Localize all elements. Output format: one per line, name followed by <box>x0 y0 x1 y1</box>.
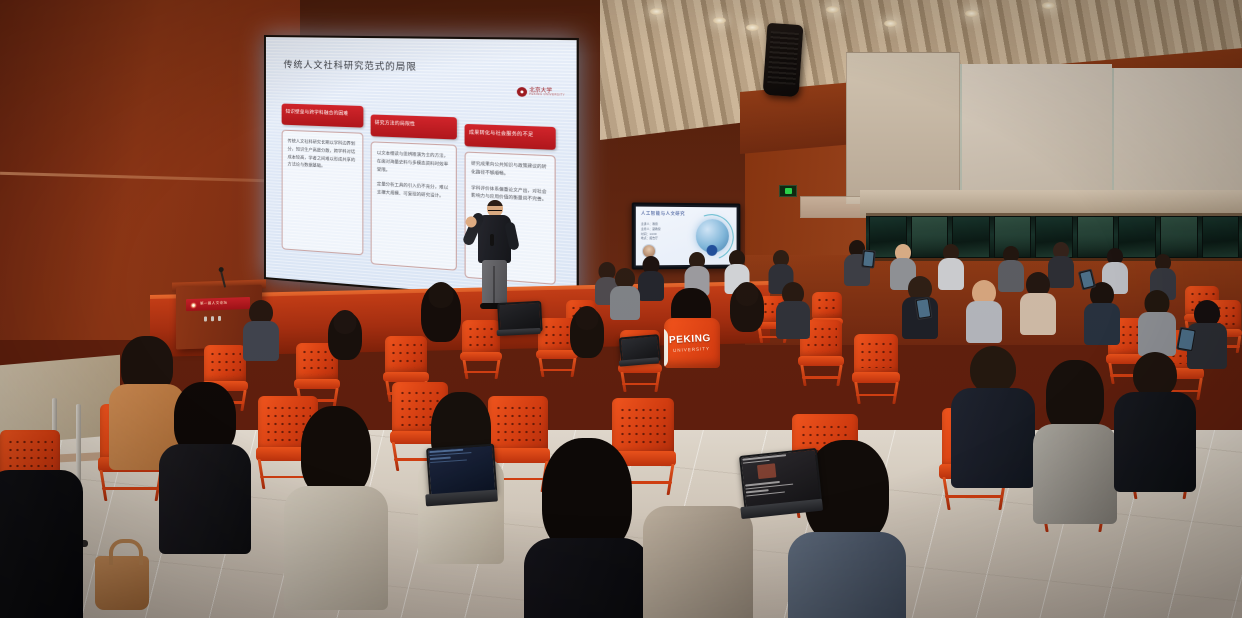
secondary-slide-title: 人工智能与人文研究 <box>641 211 685 217</box>
torso <box>966 301 1002 343</box>
torso <box>1020 293 1056 335</box>
audience-member <box>1000 246 1022 286</box>
university-seal-icon <box>517 87 527 97</box>
audience-member-foreground <box>118 336 176 456</box>
torso <box>0 470 83 618</box>
torso <box>159 444 251 554</box>
laptop-stage-edge[interactable] <box>497 301 539 337</box>
audience-member <box>778 282 808 336</box>
slide-title: 传统人文社科研究范式的局限 <box>284 57 417 73</box>
lectern-banner-text: 第一届人文论坛 <box>200 302 227 307</box>
torso <box>776 301 810 339</box>
audience-member-foreground <box>544 438 630 618</box>
decorative-dot-icon <box>707 245 718 256</box>
slide-card-paragraph: 传统人文社科研究长期以学科边界划分，知识生产高度分散，跨学科对话成本较高，学者之… <box>288 137 358 172</box>
audience-member <box>246 300 276 356</box>
audience-member <box>640 256 662 296</box>
audience-member <box>940 244 962 284</box>
torso <box>638 271 664 301</box>
chair <box>854 334 898 400</box>
torso <box>643 506 753 618</box>
slide-card: 研究方法的局限性 以文本细读与思辨推演为主的方法，在面对海量史料与多模态资料时效… <box>371 114 457 277</box>
slide-card-paragraph: 研究成果向公共知识与政策建议的转化路径不够顺畅。 <box>471 159 549 179</box>
audience-member <box>686 252 708 292</box>
audience-member <box>968 280 1000 338</box>
phone-icon <box>914 297 932 320</box>
torso <box>524 538 650 618</box>
downlight-icon <box>826 6 839 13</box>
audience-member <box>612 268 638 314</box>
audience-member-foreground <box>300 406 372 576</box>
hair <box>301 406 371 498</box>
torso <box>951 388 1035 488</box>
slide-card-paragraph: 定量分析工具的引入仍不充分，难以支撑大规模、可复现的研究设计。 <box>377 180 450 200</box>
downlight-icon <box>884 20 897 27</box>
audience-member <box>1140 290 1174 350</box>
varsity-jacket: PEKING UNIVERSITY <box>664 318 720 368</box>
presenter-legs <box>482 260 507 305</box>
torso <box>1114 392 1196 492</box>
torso <box>788 532 906 618</box>
glass-partition <box>1112 68 1242 208</box>
glass-partition <box>960 64 1112 206</box>
slide-card: 知识壁垒与跨学科融合的困难 传统人文社科研究长期以学科边界划分，知识生产高度分散… <box>282 104 364 270</box>
downlight-icon <box>713 17 726 24</box>
window-pane <box>1160 216 1198 258</box>
peking-university-logo: 北京大学 PEKING UNIVERSITY <box>517 87 565 98</box>
hair <box>1046 360 1104 434</box>
torso <box>243 321 279 361</box>
glasses-icon <box>488 207 502 211</box>
audience-member-foreground <box>172 382 238 532</box>
window-pane <box>1202 216 1240 258</box>
audience-member-foreground <box>962 346 1024 486</box>
lectern-controls <box>204 316 221 322</box>
audience-member-foreground <box>1126 352 1184 492</box>
head <box>736 282 759 306</box>
head <box>334 310 357 334</box>
head <box>576 306 599 330</box>
laptop-mid-row[interactable] <box>619 334 657 367</box>
logo-subtext: PEKING UNIVERSITY <box>529 93 565 97</box>
slide-card-header: 成果转化与社会服务的不足 <box>465 124 556 150</box>
slide-card-paragraph: 以文本细读与思辨推演为主的方法，在面对海量史料与多模态资料时效率受限。 <box>377 149 450 177</box>
speaker-line: 地点：报告厅 <box>641 236 689 241</box>
main-projection-screen: 传统人文社科研究范式的局限 北京大学 PEKING UNIVERSITY 知识壁… <box>264 35 579 305</box>
audience-member-foreground <box>660 506 736 618</box>
audience-member <box>424 282 458 344</box>
torso <box>284 486 388 610</box>
downlight-icon <box>650 8 663 15</box>
laptop-foreground-left[interactable] <box>426 444 494 506</box>
audience-member-foreground <box>0 470 70 618</box>
head <box>970 346 1016 394</box>
audience-member <box>1086 282 1118 340</box>
lectern-banner: 第一届人文论坛 <box>186 297 250 311</box>
head <box>429 282 454 308</box>
audience-member <box>1022 272 1054 330</box>
jacket-sleeve <box>664 328 668 368</box>
torso <box>998 260 1024 292</box>
downlight-icon <box>746 24 759 31</box>
downlight-icon <box>965 10 978 17</box>
slide-card-body: 以文本细读与思辨推演为主的方法，在面对海量史料与多模态资料时效率受限。 定量分析… <box>371 141 457 270</box>
slide-card-header: 知识壁垒与跨学科融合的困难 <box>282 104 364 128</box>
loudspeaker-cabinet <box>763 23 804 97</box>
audience-member <box>572 306 602 362</box>
varsity-jacket-subtext: UNIVERSITY <box>673 346 710 353</box>
torso <box>938 258 964 290</box>
audience-member <box>330 310 360 366</box>
slide-card-body: 传统人文社科研究长期以学科边界划分，知识生产高度分散，跨学科对话成本较高，学者之… <box>282 130 364 256</box>
secondary-slide-lines: 主讲人：教授 主持人：副教授 时间：14:00 地点：报告厅 <box>641 222 689 241</box>
downlight-icon <box>1042 2 1055 9</box>
audience-member-foreground <box>1046 360 1104 500</box>
audience-member <box>732 282 762 336</box>
university-seal-icon <box>190 301 197 308</box>
handheld-microphone-icon <box>490 234 494 246</box>
phone-icon <box>861 249 876 268</box>
handbag <box>95 556 149 610</box>
acoustic-panel <box>846 52 960 204</box>
lecture-hall-photo: 传统人文社科研究范式的局限 北京大学 PEKING UNIVERSITY 知识壁… <box>0 0 1242 618</box>
chair <box>462 320 500 376</box>
exit-sign-icon <box>779 185 797 197</box>
hair <box>542 438 632 554</box>
slide-card-header: 研究方法的局限性 <box>371 114 457 139</box>
torso <box>1138 312 1176 356</box>
varsity-jacket-text: PEKING <box>669 333 711 346</box>
torso <box>1033 424 1117 524</box>
presenter <box>470 200 518 308</box>
laptop-foreground-right[interactable] <box>739 448 819 517</box>
audience-member <box>1152 254 1174 294</box>
torso <box>610 286 640 320</box>
torso <box>1084 303 1120 345</box>
